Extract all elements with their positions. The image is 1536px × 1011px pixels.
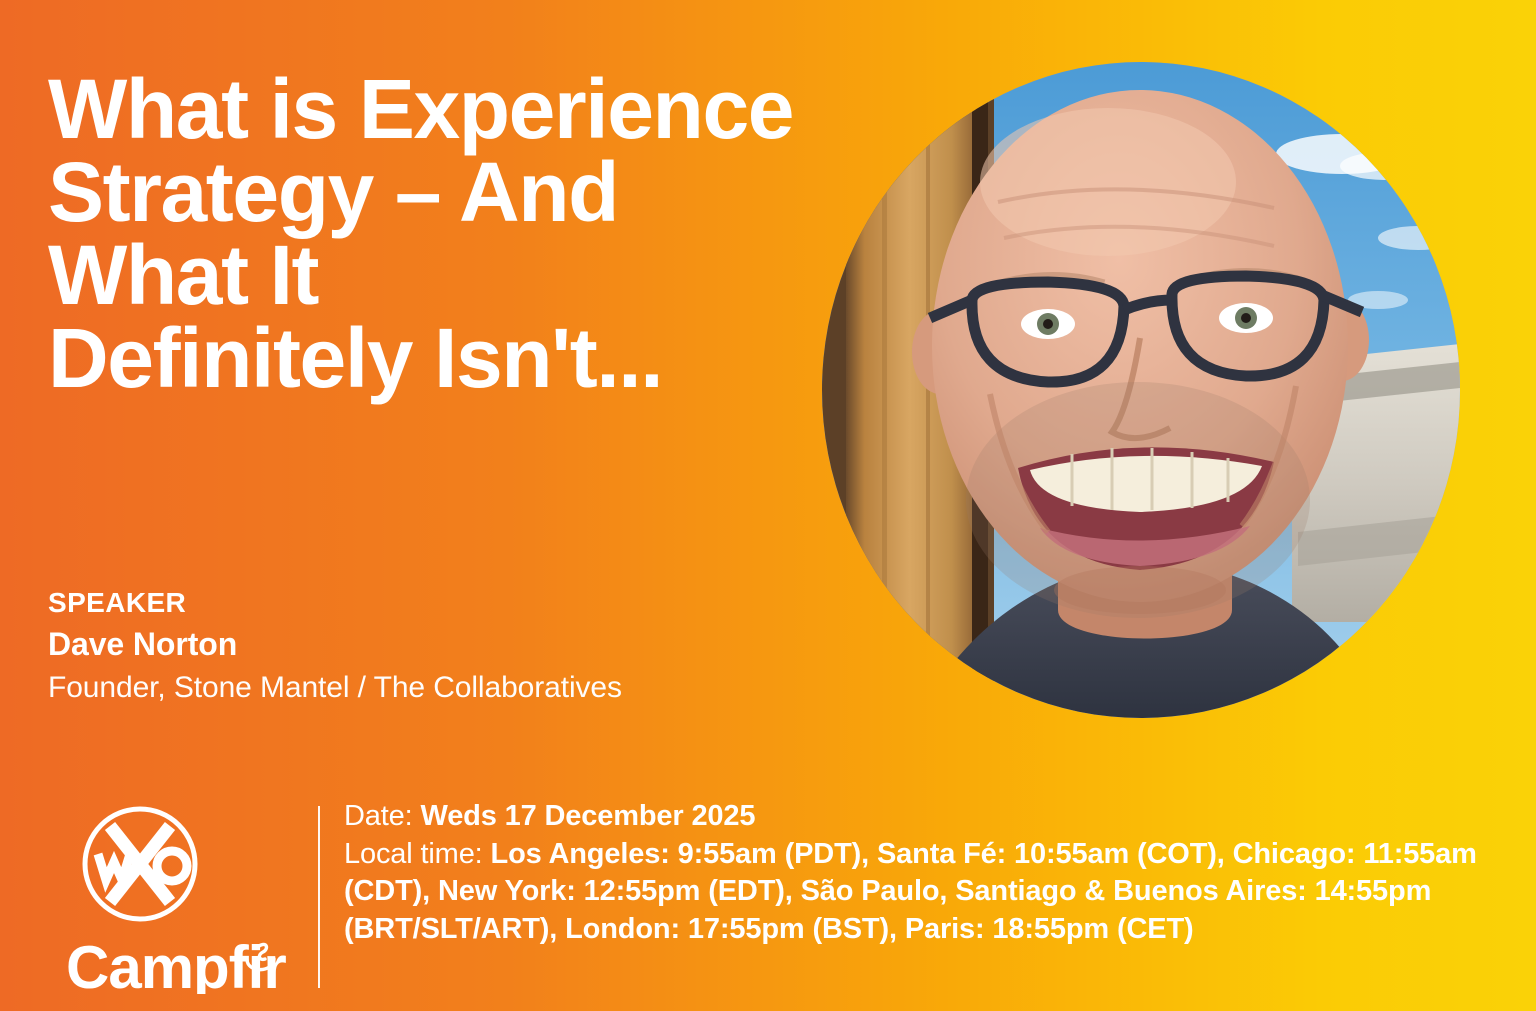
event-date-row: Date: Weds 17 December 2025: [344, 798, 1524, 836]
page-title: What is Experience Strategy – And What I…: [48, 68, 928, 401]
footer: Campfire Date: Weds 17 December 2025 Loc…: [0, 790, 1536, 1011]
time-value: Los Angeles: 9:55am (PDT), Santa Fé: 10:…: [344, 838, 1477, 945]
date-value: Weds 17 December 2025: [421, 800, 756, 832]
speaker-role: Founder, Stone Mantel / The Collaborativ…: [48, 668, 622, 707]
title-line-4: Definitely Isn't...: [48, 317, 928, 400]
campfire-logo-lockup[interactable]: Campfire: [62, 802, 288, 994]
title-line-2: Strategy – And: [48, 151, 928, 234]
speaker-block: SPEAKER Dave Norton Founder, Stone Mante…: [48, 586, 622, 707]
wxo-circle-logo-icon: [78, 802, 202, 926]
speaker-label: SPEAKER: [48, 586, 622, 620]
title-line-1: What is Experience: [48, 68, 928, 151]
campfire-wordmark: Campfire: [66, 928, 288, 994]
svg-text:Campfire: Campfire: [66, 934, 288, 994]
event-time-row: Local time: Los Angeles: 9:55am (PDT), S…: [344, 836, 1524, 949]
event-details: Date: Weds 17 December 2025 Local time: …: [344, 798, 1524, 949]
time-label: Local time:: [344, 838, 483, 870]
event-promo-card: What is Experience Strategy – And What I…: [0, 0, 1536, 1011]
speaker-name: Dave Norton: [48, 624, 622, 666]
speaker-portrait: [822, 62, 1460, 718]
title-line-3: What It: [48, 234, 928, 317]
portrait-illustration: [822, 62, 1460, 718]
date-label: Date:: [344, 800, 413, 832]
footer-divider: [318, 806, 320, 988]
